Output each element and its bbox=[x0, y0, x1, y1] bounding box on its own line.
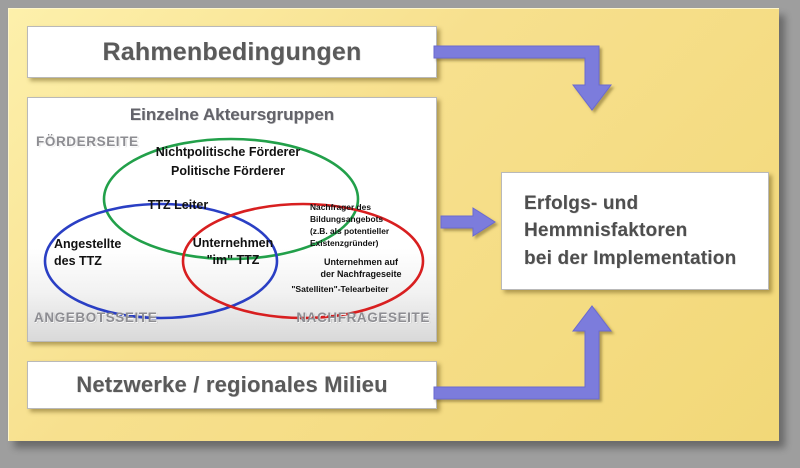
venn-group-angestellte-des-ttz: Angestellte des TTZ bbox=[54, 236, 164, 270]
venn-group-foerderer: Nichtpolitische Förderer Politische Förd… bbox=[123, 143, 333, 181]
arrow-top-elbow bbox=[434, 46, 611, 110]
venn-label-angebotsseite: ANGEBOTSSEITE bbox=[34, 310, 157, 325]
venn-diagram-panel: Einzelne Akteursgruppen FÖRDERSEITE ANGE… bbox=[27, 97, 437, 342]
box-erfolgs-und-hemmnisfaktoren-label: Erfolgs- und Hemmnisfaktoren bei der Imp… bbox=[524, 190, 736, 273]
venn-label-nachfrageseite: NACHFRAGESEITE bbox=[296, 310, 430, 325]
venn-group-nachfrager-bildungsangebot: Nachfrager des Bildungsangebots (z.B. al… bbox=[310, 202, 430, 250]
venn-group-unternehmen-nachfrageseite: Unternehmen auf der Nachfrageseite bbox=[296, 256, 426, 280]
venn-group-ttz-leiter: TTZ Leiter bbox=[118, 198, 238, 214]
box-rahmenbedingungen[interactable]: Rahmenbedingungen bbox=[27, 26, 437, 78]
diagram-canvas: Rahmenbedingungen Einzelne Akteursgruppe… bbox=[0, 0, 800, 468]
venn-group-unternehmen-im-ttz: Unternehmen "im" TTZ bbox=[178, 235, 288, 269]
arrow-bottom-elbow bbox=[434, 306, 611, 399]
box-rahmenbedingungen-label: Rahmenbedingungen bbox=[103, 38, 362, 67]
box-netzwerke-label: Netzwerke / regionales Milieu bbox=[76, 372, 387, 398]
venn-group-satelliten-telearbeiter: "Satelliten"-Telearbeiter bbox=[250, 284, 430, 295]
box-erfolgs-und-hemmnisfaktoren[interactable]: Erfolgs- und Hemmnisfaktoren bei der Imp… bbox=[501, 172, 769, 290]
arrow-middle-right bbox=[441, 208, 495, 236]
box-netzwerke-regionales-milieu[interactable]: Netzwerke / regionales Milieu bbox=[27, 361, 437, 409]
yellow-background-panel: Rahmenbedingungen Einzelne Akteursgruppe… bbox=[8, 8, 779, 441]
